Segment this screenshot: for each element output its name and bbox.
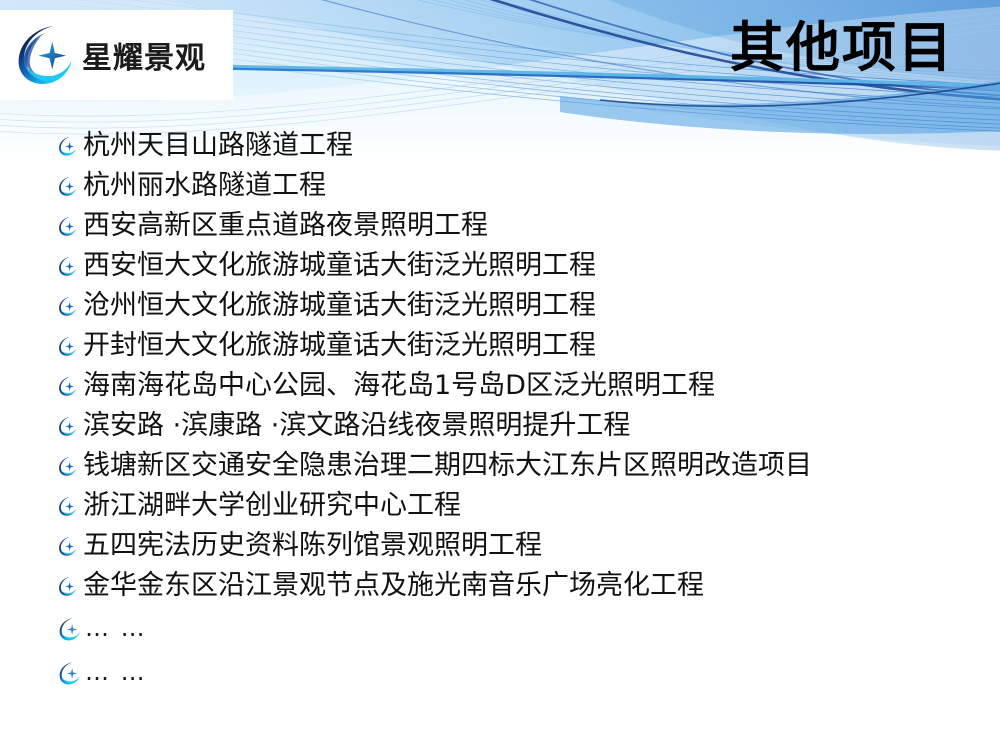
- list-item-label: 杭州丽水路隧道工程: [83, 166, 326, 206]
- list-item-label: … …: [85, 606, 147, 650]
- list-item-label: 海南海花岛中心公园、海花岛1号岛D区泛光照明工程: [83, 366, 715, 406]
- list-item-label: 开封恒大文化旅游城童话大街泛光照明工程: [83, 326, 596, 366]
- crescent-star-bullet-icon: [56, 575, 78, 597]
- crescent-star-bullet-icon: [56, 215, 78, 237]
- list-item[interactable]: … …: [56, 650, 966, 694]
- list-item[interactable]: 开封恒大文化旅游城童话大街泛光照明工程: [56, 326, 966, 366]
- list-item-label: 浙江湖畔大学创业研究中心工程: [83, 486, 461, 526]
- crescent-star-bullet-icon: [56, 535, 78, 557]
- crescent-star-logo-icon: [12, 22, 78, 88]
- crescent-star-bullet-icon: [56, 375, 78, 397]
- list-item[interactable]: 钱塘新区交通安全隐患治理二期四标大江东片区照明改造项目: [56, 446, 966, 486]
- slide: 星耀景观 其他项目 杭州天目山路隧道工程: [0, 0, 1000, 750]
- list-item[interactable]: 沧州恒大文化旅游城童话大街泛光照明工程: [56, 286, 966, 326]
- list-item[interactable]: 西安恒大文化旅游城童话大街泛光照明工程: [56, 246, 966, 286]
- list-item[interactable]: … …: [56, 606, 966, 650]
- list-item-label: 钱塘新区交通安全隐患治理二期四标大江东片区照明改造项目: [83, 446, 812, 486]
- list-item-label: 西安高新区重点道路夜景照明工程: [83, 206, 488, 246]
- list-item[interactable]: 海南海花岛中心公园、海花岛1号岛D区泛光照明工程: [56, 366, 966, 406]
- list-item-label: 杭州天目山路隧道工程: [83, 126, 353, 166]
- list-item[interactable]: 浙江湖畔大学创业研究中心工程: [56, 486, 966, 526]
- list-item[interactable]: 西安高新区重点道路夜景照明工程: [56, 206, 966, 246]
- crescent-star-bullet-icon: [56, 295, 78, 317]
- logo-plate: 星耀景观: [0, 10, 233, 100]
- crescent-star-bullet-icon: [56, 175, 78, 197]
- list-item-label: … …: [85, 650, 147, 694]
- crescent-star-bullet-icon: [56, 135, 78, 157]
- list-item[interactable]: 五四宪法历史资料陈列馆景观照明工程: [56, 526, 966, 566]
- list-item[interactable]: 杭州丽水路隧道工程: [56, 166, 966, 206]
- crescent-star-bullet-icon: [56, 415, 78, 437]
- list-item[interactable]: 滨安路 ·滨康路 ·滨文路沿线夜景照明提升工程: [56, 406, 966, 446]
- list-item-label: 五四宪法历史资料陈列馆景观照明工程: [83, 526, 542, 566]
- list-item-label: 沧州恒大文化旅游城童话大街泛光照明工程: [83, 286, 596, 326]
- crescent-star-bullet-icon: [56, 455, 78, 477]
- list-item-label: 滨安路 ·滨康路 ·滨文路沿线夜景照明提升工程: [83, 406, 630, 446]
- list-item-label: 金华金东区沿江景观节点及施光南音乐广场亮化工程: [83, 566, 704, 606]
- crescent-star-bullet-icon: [56, 660, 82, 686]
- project-list: 杭州天目山路隧道工程 杭州丽水路隧道工程 西安高新区重点道路夜景照明工程: [56, 126, 966, 694]
- list-item[interactable]: 金华金东区沿江景观节点及施光南音乐广场亮化工程: [56, 566, 966, 606]
- crescent-star-bullet-icon: [56, 335, 78, 357]
- page-title: 其他项目: [730, 16, 954, 80]
- list-item[interactable]: 杭州天目山路隧道工程: [56, 126, 966, 166]
- crescent-star-bullet-icon: [56, 255, 78, 277]
- crescent-star-bullet-icon: [56, 495, 78, 517]
- crescent-star-bullet-icon: [56, 616, 82, 642]
- logo-wordmark: 星耀景观: [82, 33, 206, 77]
- list-item-label: 西安恒大文化旅游城童话大街泛光照明工程: [83, 246, 596, 286]
